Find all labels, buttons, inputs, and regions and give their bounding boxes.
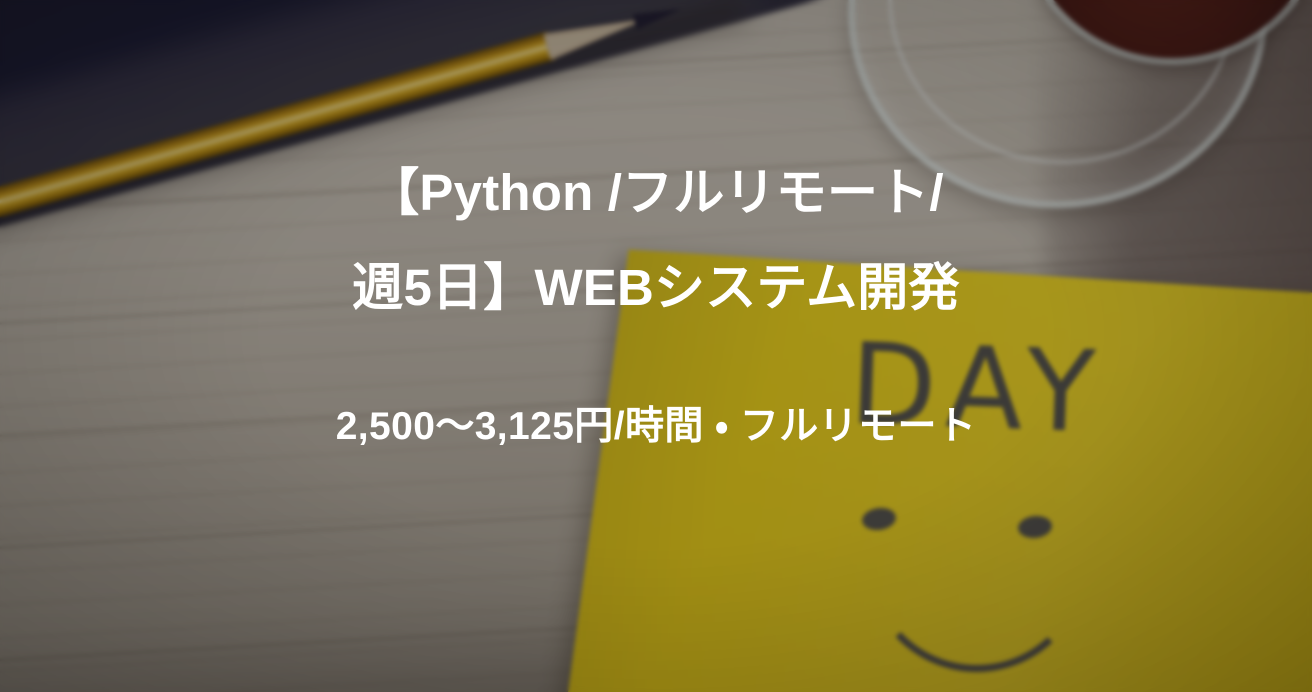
banner-content: 【Python /フルリモート/週5日】WEBシステム開発 2,500〜3,12… [0, 0, 1312, 692]
banner-subtitle: 2,500〜3,125円/時間 ・ フルリモート [336, 336, 977, 453]
page-title: 【Python /フルリモート/週5日】WEBシステム開発 [346, 0, 966, 336]
job-hero-banner: DAY 【Python /フルリモート/週5日】WEBシステム開発 2,500〜… [0, 0, 1312, 692]
